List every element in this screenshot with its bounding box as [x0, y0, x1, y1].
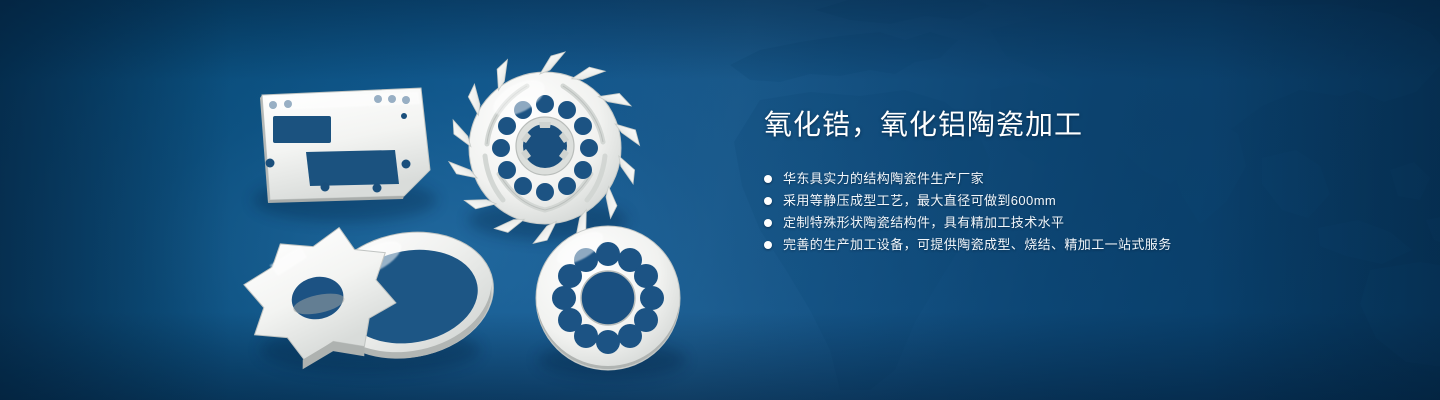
bullet-dot-icon — [764, 219, 772, 227]
feature-bullet-text: 华东具实力的结构陶瓷件生产厂家 — [783, 168, 984, 190]
product-ceramic-plate — [260, 88, 430, 203]
product-perforated-ring-disc — [536, 225, 680, 370]
feature-bullet-item: 完善的生产加工设备，可提供陶瓷成型、烧结、精加工一站式服务 — [764, 234, 1324, 256]
feature-bullet-item: 采用等静压成型工艺，最大直径可做到600mm — [764, 190, 1324, 212]
feature-bullet-item: 定制特殊形状陶瓷结构件，具有精加工技术水平 — [764, 212, 1324, 234]
banner-headline: 氧化锆，氧化铝陶瓷加工 — [764, 108, 1324, 142]
bullet-dot-icon — [764, 241, 772, 249]
bullet-dot-icon — [764, 197, 772, 205]
hero-banner: 氧化锆，氧化铝陶瓷加工 华东具实力的结构陶瓷件生产厂家 采用等静压成型工艺，最大… — [0, 0, 1440, 400]
banner-text-block: 氧化锆，氧化铝陶瓷加工 华东具实力的结构陶瓷件生产厂家 采用等静压成型工艺，最大… — [764, 108, 1324, 256]
feature-bullet-text: 完善的生产加工设备，可提供陶瓷成型、烧结、精加工一站式服务 — [783, 234, 1172, 256]
feature-bullet-list: 华东具实力的结构陶瓷件生产厂家 采用等静压成型工艺，最大直径可做到600mm 定… — [764, 168, 1324, 256]
feature-bullet-item: 华东具实力的结构陶瓷件生产厂家 — [764, 168, 1324, 190]
feature-bullet-text: 定制特殊形状陶瓷结构件，具有精加工技术水平 — [783, 212, 1064, 234]
feature-bullet-text: 采用等静压成型工艺，最大直径可做到600mm — [783, 190, 1056, 212]
bullet-dot-icon — [764, 175, 772, 183]
product-photo-group — [0, 0, 740, 400]
